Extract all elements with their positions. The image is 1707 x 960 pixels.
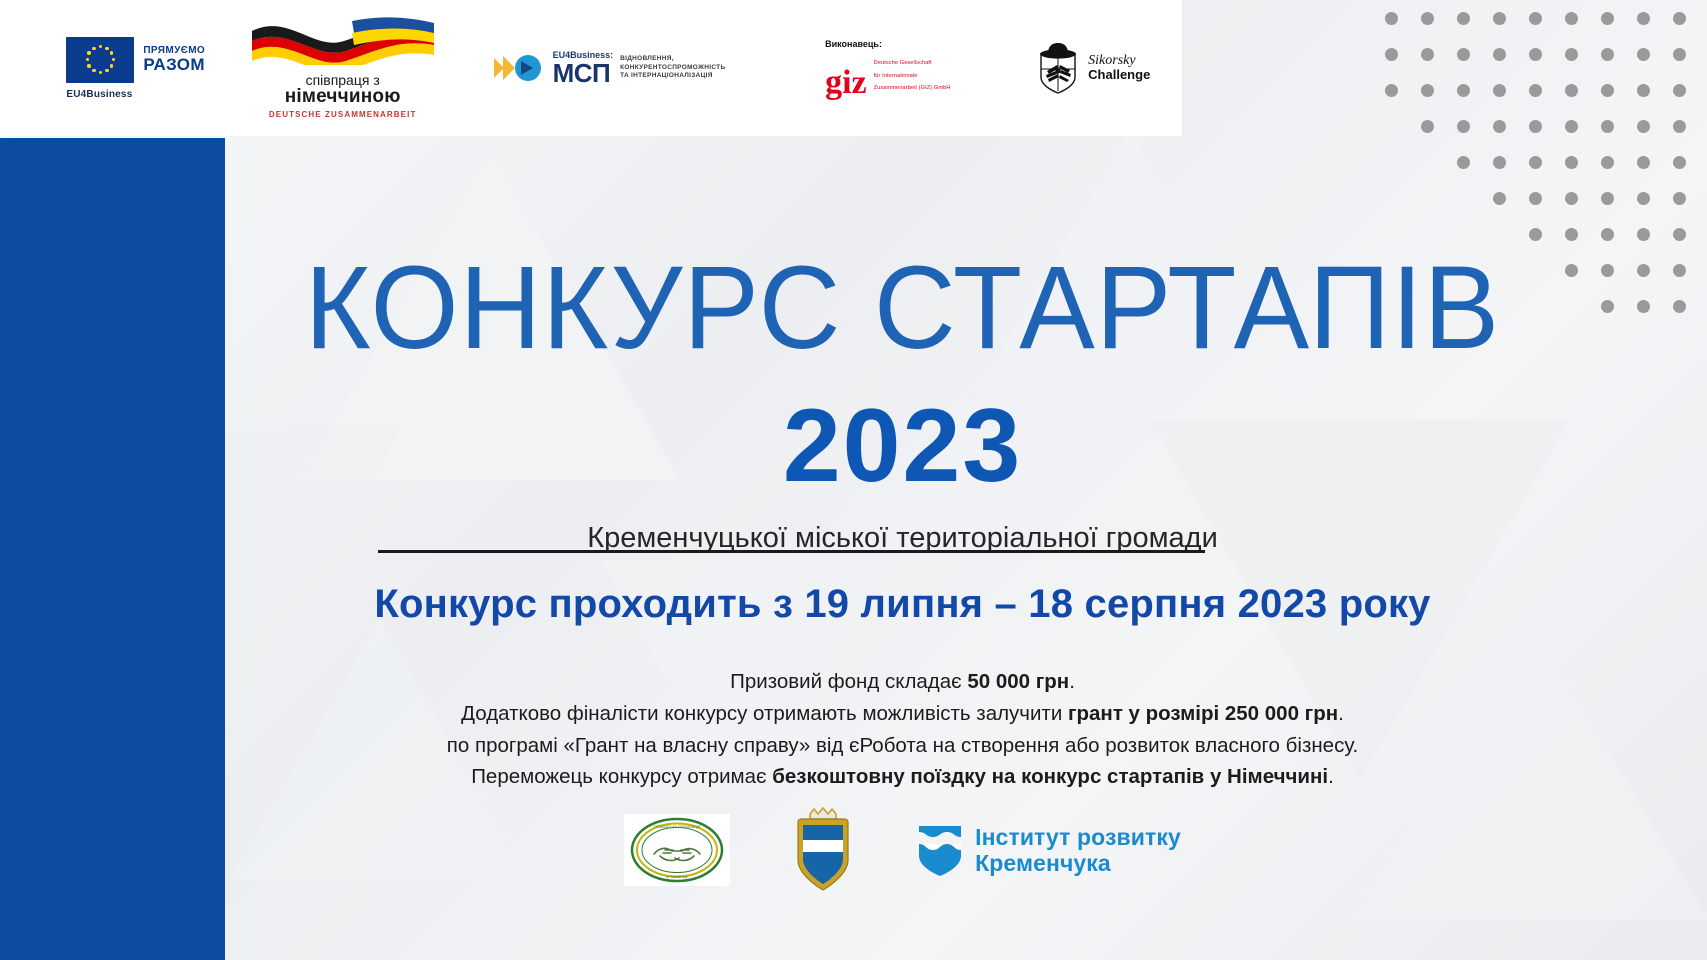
decor-dot (1673, 48, 1686, 61)
sikorsky-line2: Challenge (1088, 68, 1150, 82)
decor-dot (1421, 12, 1434, 25)
msp-arrow-circle-icon (494, 52, 546, 84)
handshake-seal-icon: ГРОМАДСЬКА ОРГАНІЗАЦІЯ м. Кременчук (627, 816, 727, 884)
winner-text: Переможець конкурсу отримає (471, 765, 772, 788)
sikorsky-line1: Sikorsky (1088, 54, 1150, 68)
german-ukrainian-flag-wave-icon (248, 17, 438, 65)
partner-logo-strip: ПРЯМУЄМО РАЗОМ EU4Business співпраця з н… (0, 0, 1182, 136)
ird-line1: Інститут розвитку (975, 824, 1181, 850)
logo-green-handshake-seal: ГРОМАДСЬКА ОРГАНІЗАЦІЯ м. Кременчук (624, 814, 730, 886)
eu-flag-icon (66, 37, 134, 83)
details-line-4: Переможець конкурсу отримає безкоштовну … (225, 761, 1580, 793)
decor-dot (1529, 12, 1542, 25)
eu4business-caption: EU4Business (66, 89, 205, 100)
prize-fund-period: . (1069, 670, 1075, 693)
decor-dot (1601, 12, 1614, 25)
sikorsky-hat-shield-icon (1034, 41, 1082, 95)
decor-dot (1457, 48, 1470, 61)
eu4business-line2: РАЗОМ (143, 56, 205, 73)
prize-fund-text: Призовий фонд складає (730, 670, 967, 693)
grant-text: Додатково фіналісти конкурсу отримають м… (461, 702, 1068, 725)
coat-of-arms-icon (788, 806, 858, 894)
decor-dot (1601, 48, 1614, 61)
details-line-2: Додатково фіналісти конкурсу отримають м… (225, 698, 1580, 730)
logo-institute-of-development: Інститут розвитку Кременчука (916, 822, 1181, 878)
footer-logo-row: ГРОМАДСЬКА ОРГАНІЗАЦІЯ м. Кременчук (225, 806, 1580, 894)
giz-implementer-label: Виконавець: (825, 39, 950, 49)
decor-dot (1673, 12, 1686, 25)
logo-kremenchuk-coat-of-arms (788, 806, 858, 894)
winner-period: . (1328, 765, 1334, 788)
decor-dot (1601, 84, 1614, 97)
german-coop-line1: співпраця з (248, 73, 438, 88)
left-blue-bar (0, 138, 225, 960)
decor-dot (1673, 84, 1686, 97)
logo-german-cooperation: співпраця з німеччиною DEUTSCHE ZUSAMMEN… (235, 0, 449, 136)
decor-dot (1529, 48, 1542, 61)
decor-dot (1493, 12, 1506, 25)
decor-dot (1529, 120, 1542, 133)
giz-wordmark: giz (825, 69, 867, 96)
decor-dot (1457, 120, 1470, 133)
giz-small-line2: für Internationale (874, 72, 951, 84)
decor-dot (1385, 84, 1398, 97)
decor-dot (1493, 84, 1506, 97)
decor-dot (1601, 120, 1614, 133)
contest-dates: Конкурс проходить з 19 липня – 18 серпня… (225, 582, 1580, 627)
decor-dot (1565, 120, 1578, 133)
main-content: КОНКУРС СТАРТАПІВ 2023 Кременчуцької міс… (225, 136, 1707, 960)
decor-dot (1637, 120, 1650, 133)
grant-period: . (1338, 702, 1344, 725)
poster-root: ПРЯМУЄМО РАЗОМ EU4Business співпраця з н… (0, 0, 1707, 960)
msp-side-line2: КОНКУРЕНТОСПРОМОЖНІСТЬ (620, 64, 725, 73)
year-heading: 2023 (225, 394, 1580, 498)
msp-side-line1: ВІДНОВЛЕННЯ, (620, 55, 725, 64)
svg-text:ГРОМАДСЬКА ОРГАНІЗАЦІЯ: ГРОМАДСЬКА ОРГАНІЗАЦІЯ (654, 825, 701, 829)
decor-dot (1457, 12, 1470, 25)
decor-dot (1637, 48, 1650, 61)
giz-small-line1: Deutsche Gesellschaft (874, 59, 951, 71)
logo-giz: Виконавець: giz Deutsche Gesellschaft fü… (759, 0, 1002, 136)
decor-dot (1637, 12, 1650, 25)
decor-dot (1493, 120, 1506, 133)
decor-dot (1385, 48, 1398, 61)
details-paragraph: Призовий фонд складає 50 000 грн. Додатк… (225, 666, 1580, 793)
decor-dot (1673, 120, 1686, 133)
msp-side-line3: ТА ІНТЕРНАЦІОНАЛІЗАЦІЯ (620, 72, 725, 81)
svg-text:м. Кременчук: м. Кременчук (667, 875, 689, 879)
decor-dot (1493, 48, 1506, 61)
prize-fund-amount: 50 000 грн (967, 670, 1069, 693)
divider-rule (378, 550, 1205, 553)
german-coop-line3: DEUTSCHE ZUSAMMENARBEIT (248, 110, 438, 119)
page-title: КОНКУРС СТАРТАПІВ (252, 252, 1553, 364)
ird-shield-icon (916, 822, 964, 878)
decor-dot (1565, 84, 1578, 97)
german-coop-line2: німеччиною (248, 87, 438, 107)
decor-dot (1529, 84, 1542, 97)
giz-small-line3: Zusammenarbeit (GIZ) GmbH (874, 84, 951, 96)
decor-dot (1385, 12, 1398, 25)
decor-dot (1421, 48, 1434, 61)
logo-sikorsky-challenge: Sikorsky Challenge (1002, 0, 1182, 136)
decor-dot (1565, 12, 1578, 25)
decor-dot (1637, 84, 1650, 97)
ird-line2: Кременчука (975, 850, 1181, 876)
logo-eu4business: ПРЯМУЄМО РАЗОМ EU4Business (0, 0, 235, 136)
winner-prize: безкоштовну поїздку на конкурс стартапів… (772, 765, 1328, 788)
decor-dot (1457, 84, 1470, 97)
details-line-1: Призовий фонд складає 50 000 грн. (225, 666, 1580, 698)
decor-dot (1421, 120, 1434, 133)
grant-amount: грант у розмірі 250 000 грн (1068, 702, 1338, 725)
decor-dot (1565, 48, 1578, 61)
msp-main-label: МСП (553, 60, 614, 86)
decor-dot (1421, 84, 1434, 97)
details-line-3: по програмі «Грант на власну справу» від… (225, 730, 1580, 762)
logo-eu4business-msp: EU4Business: МСП ВІДНОВЛЕННЯ, КОНКУРЕНТО… (450, 0, 759, 136)
